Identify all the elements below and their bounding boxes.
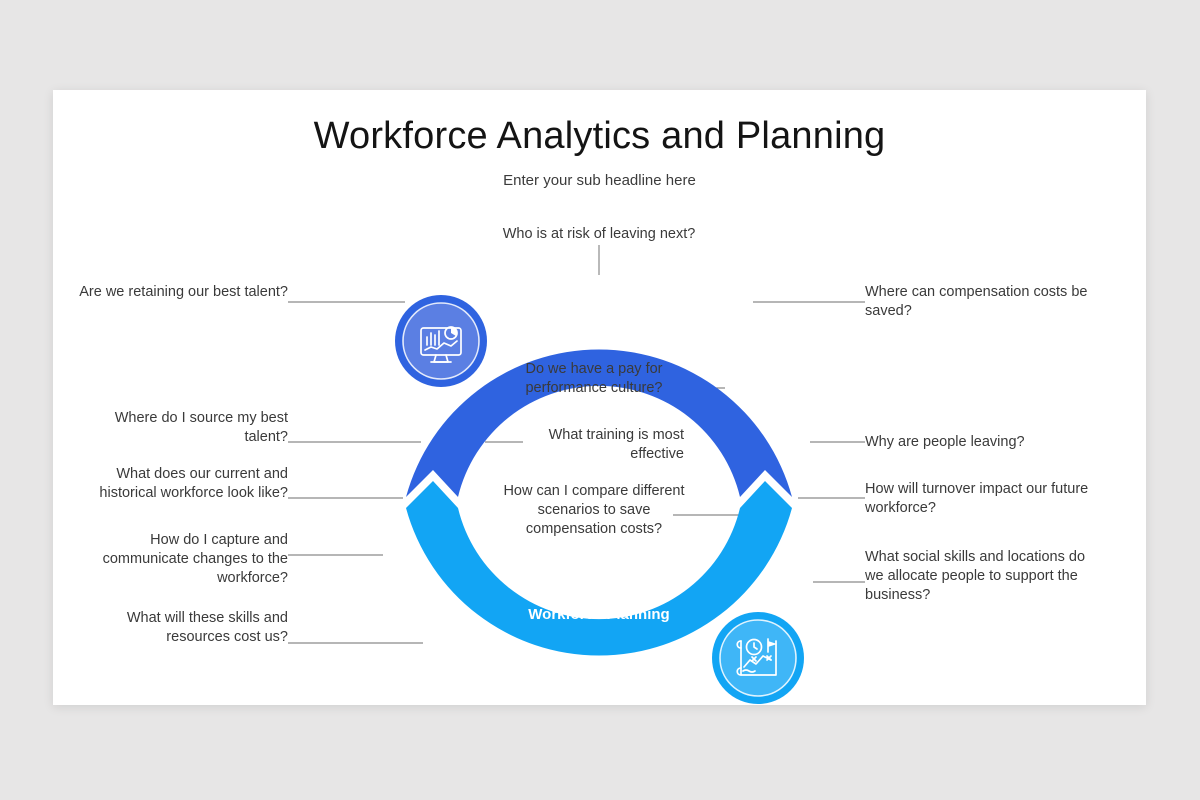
label-left-skills-cost: What will these skills and resources cos… <box>68 609 288 647</box>
label-left-communicate-changes: How do I capture and communicate changes… <box>68 531 288 588</box>
label-right-social-skills: What social skills and locations do we a… <box>865 548 1095 605</box>
ring-label-analytics: Workforce Analytics <box>449 286 749 303</box>
label-right-turnover-impact: How will turnover impact our future work… <box>865 480 1095 518</box>
workforce-donut-diagram: Workforce Analytics Workforce Planning W… <box>53 90 1146 705</box>
label-center-compare-scenarios: How can I compare different scenarios to… <box>499 482 689 539</box>
label-center-pay-performance: Do we have a pay for performance culture… <box>514 360 674 398</box>
label-left-historical-workforce: What does our current and historical wor… <box>68 465 288 503</box>
planning-icon-bubble[interactable] <box>712 612 804 704</box>
ring-label-planning: Workforce Planning <box>449 606 749 623</box>
label-left-retaining-talent: Are we retaining our best talent? <box>68 283 288 302</box>
slide-stage: Workforce Analytics and Planning Enter y… <box>0 0 1200 800</box>
label-left-source-talent: Where do I source my best talent? <box>68 409 288 447</box>
label-top-risk: Who is at risk of leaving next? <box>449 225 749 244</box>
analytics-icon-bubble[interactable] <box>395 295 487 387</box>
label-right-compensation-saved: Where can compensation costs be saved? <box>865 283 1095 321</box>
label-center-training-effective: What training is most effective <box>494 426 684 464</box>
slide-card: Workforce Analytics and Planning Enter y… <box>53 90 1146 705</box>
label-right-people-leaving: Why are people leaving? <box>865 433 1095 452</box>
